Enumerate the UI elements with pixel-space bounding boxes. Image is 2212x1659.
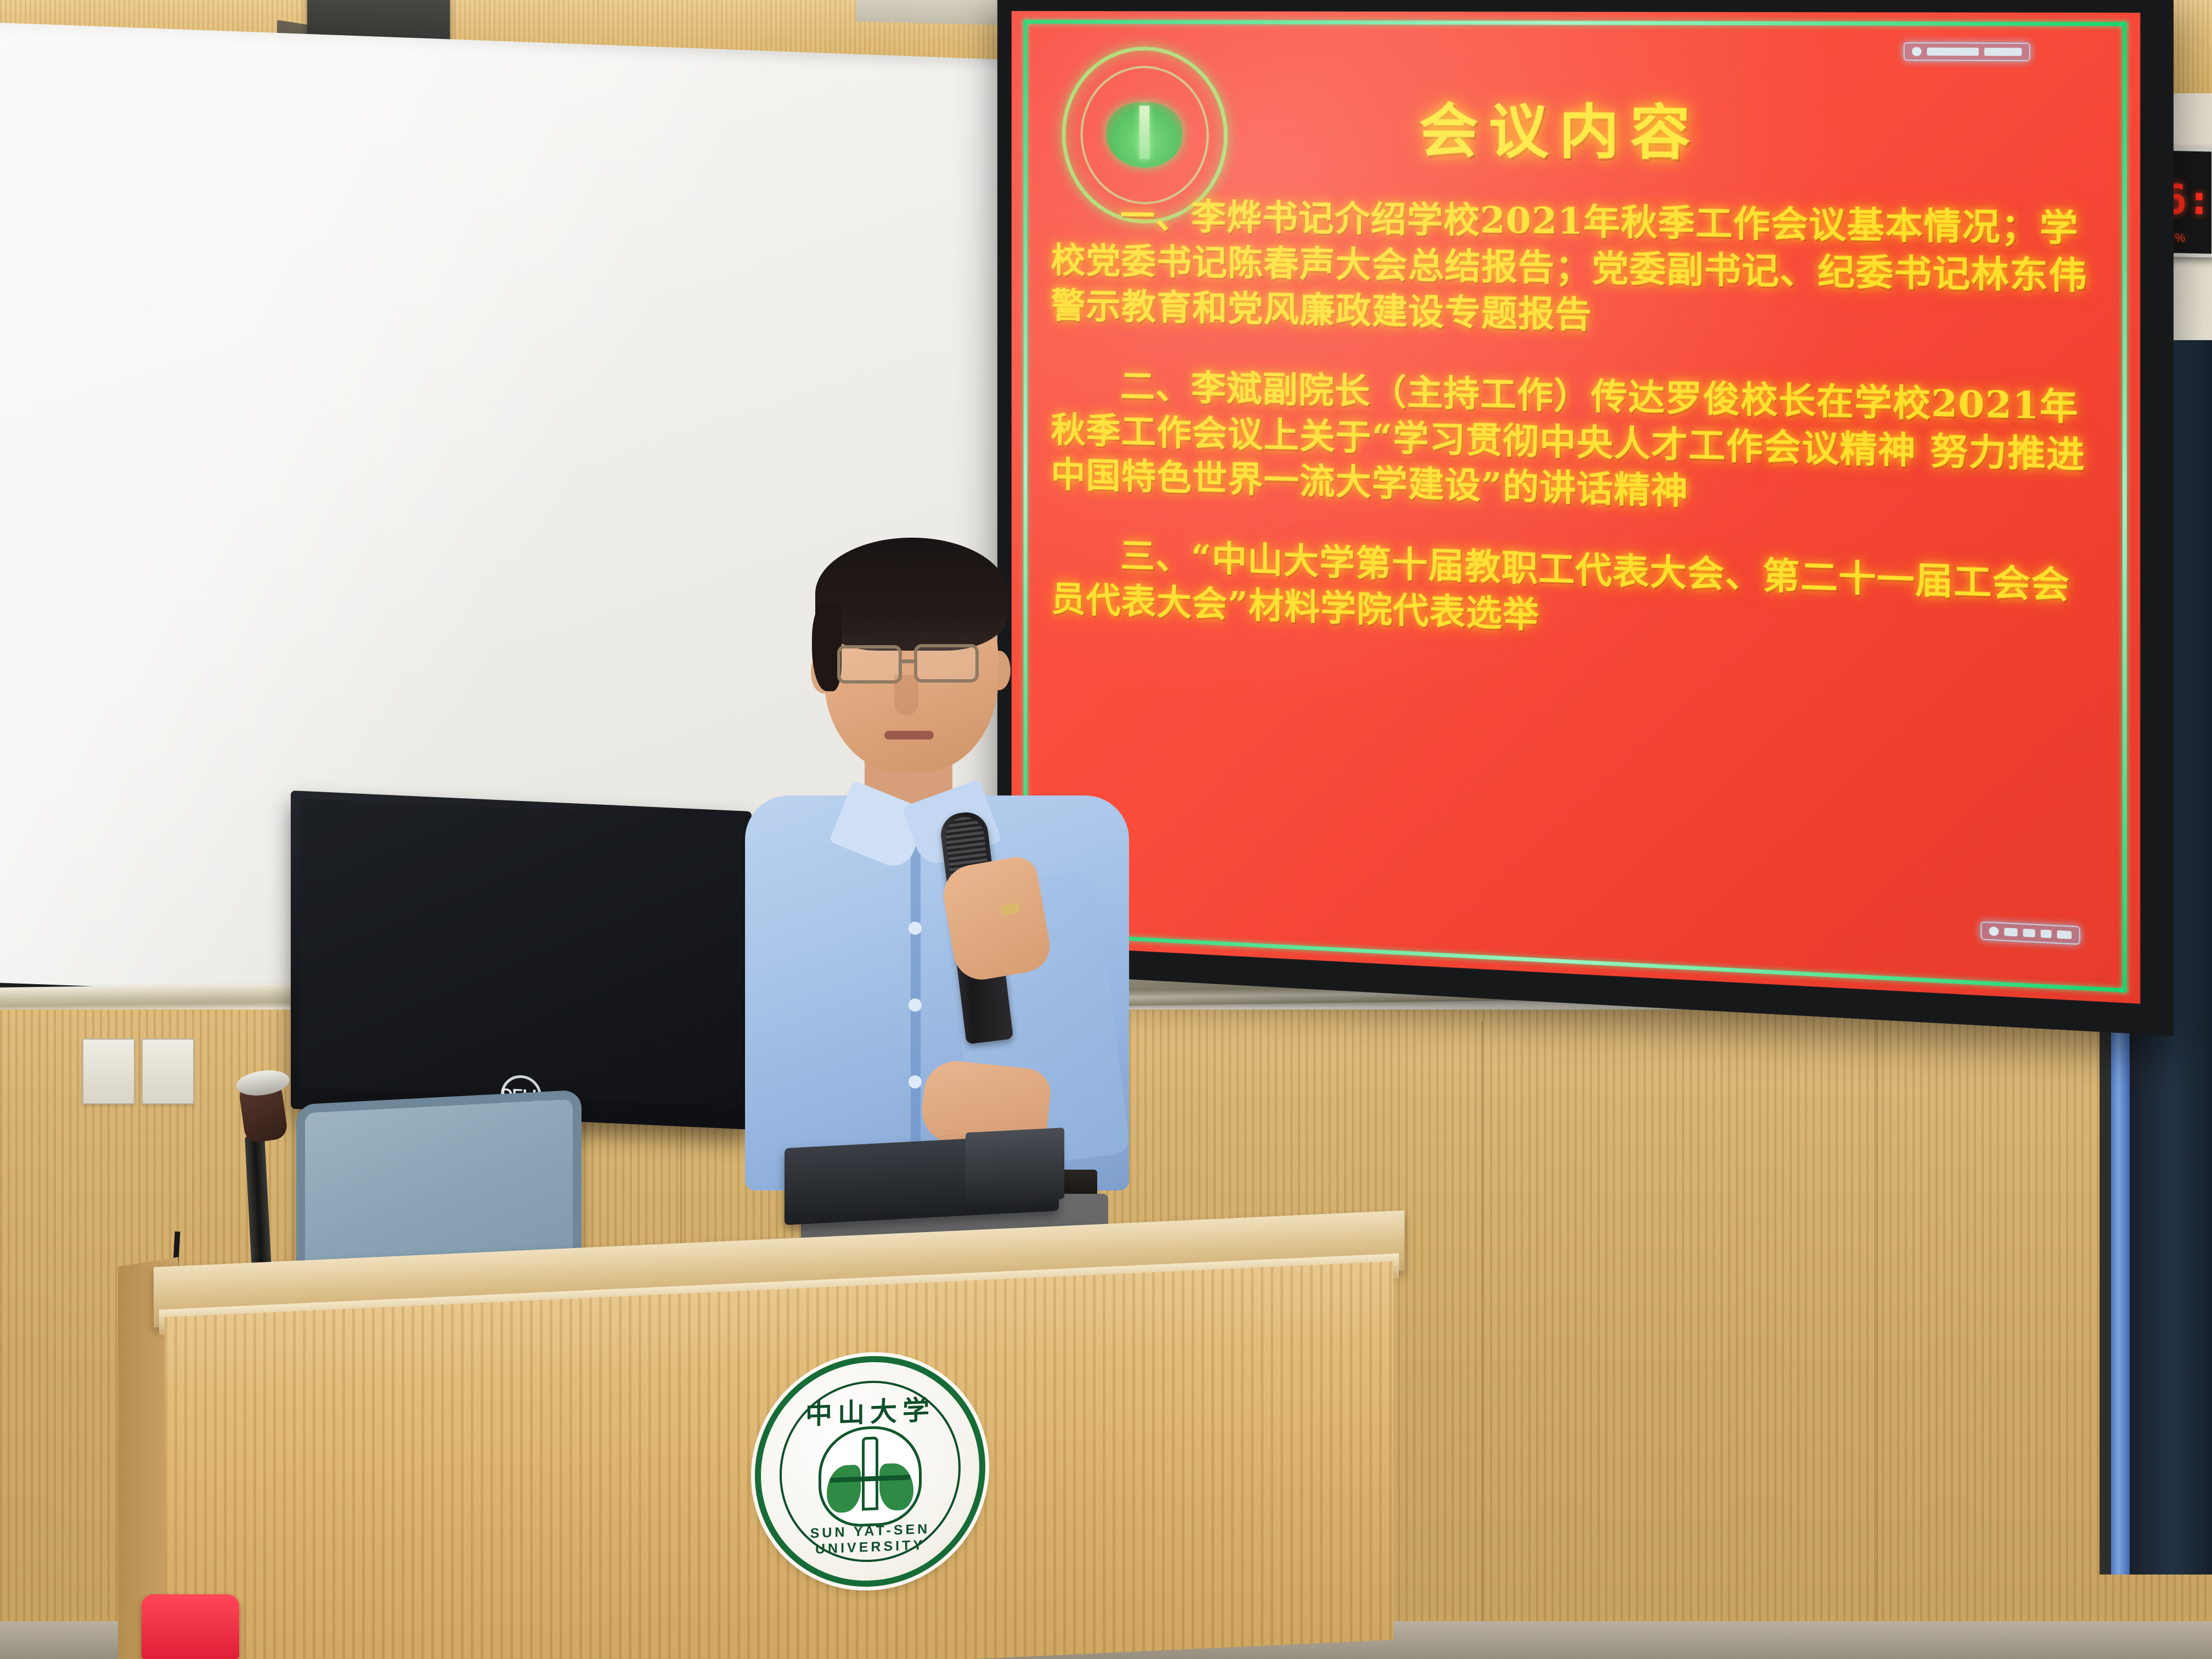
watermark-badge-top-right xyxy=(1904,42,2030,61)
monitor-screen xyxy=(300,799,743,1108)
slide-title: 会议内容 xyxy=(1012,81,2140,175)
slide-paragraph-1: 一、李烨书记介绍学校2021年秋季工作会议基本情况；学校党委书记陈春声大会总结报… xyxy=(1051,193,2104,347)
watermark-dot-icon xyxy=(1989,927,1999,936)
light-switch-plate[interactable] xyxy=(142,1039,194,1104)
wainscot-seam xyxy=(1481,1022,1483,1659)
podium-control-box[interactable] xyxy=(966,1127,1064,1204)
dell-monitor: DELL xyxy=(291,791,752,1130)
eyeglasses-lens-right xyxy=(914,644,979,682)
conference-room-photo: 温度 16: 湿度 0% xyxy=(0,0,2212,1659)
watermark-bar xyxy=(1984,48,2022,56)
podium-seal-inner-ring: 中山大学 SUN YAT-SEN UNIVERSITY xyxy=(780,1378,961,1566)
shirt-button xyxy=(909,1075,922,1088)
slide-paragraph-2: 二、李斌副院长（主持工作）传达罗俊校长在学校2021年秋季工作会议上关于“学习贯… xyxy=(1051,362,2104,527)
shirt-placket xyxy=(911,845,921,1185)
eyeglasses-lens-left xyxy=(837,645,902,684)
light-switch-plate[interactable] xyxy=(82,1039,135,1104)
watermark-bar xyxy=(2057,930,2072,939)
slide-body: 一、李烨书记介绍学校2021年秋季工作会议基本情况；学校党委书记陈春声大会总结报… xyxy=(1051,193,2104,694)
podium-seal-en-text: SUN YAT-SEN UNIVERSITY xyxy=(782,1520,958,1559)
watermark-bar xyxy=(2023,929,2035,938)
watermark-bar xyxy=(2004,928,2017,936)
watermark-bar xyxy=(2041,929,2052,938)
speaker-hair xyxy=(815,538,1008,651)
seal-leaf-right xyxy=(879,1463,913,1511)
slide-surface: 会议内容 一、李烨书记介绍学校2021年秋季工作会议基本情况；学校党委书记陈春声… xyxy=(1012,11,2140,1004)
watermark-bar xyxy=(1927,48,1978,56)
wainscot-seam xyxy=(1876,1022,1878,1659)
shirt-button xyxy=(909,998,922,1012)
speaker-nose xyxy=(894,675,918,715)
slide-paragraph-3: 三、“中山大学第十届教职工代表大会、第二十一届工会会员代表大会”材料学院代表选举 xyxy=(1051,531,2104,658)
seal-leaf-left xyxy=(827,1465,861,1513)
seal-tower xyxy=(862,1436,878,1510)
podium-seal-gate-emblem xyxy=(819,1424,922,1528)
eyeglasses-bridge xyxy=(901,659,916,663)
slide-border-top xyxy=(1024,20,2127,26)
watermark-dot-icon xyxy=(1912,47,1922,57)
projection-screen: 会议内容 一、李烨书记介绍学校2021年秋季工作会议基本情况；学校党委书记陈春声… xyxy=(997,0,2174,1036)
speaker-mouth xyxy=(884,731,934,740)
shirt-button xyxy=(909,922,922,935)
watermark-badge-bottom-right xyxy=(1980,921,2080,945)
red-container-lid xyxy=(142,1594,239,1659)
